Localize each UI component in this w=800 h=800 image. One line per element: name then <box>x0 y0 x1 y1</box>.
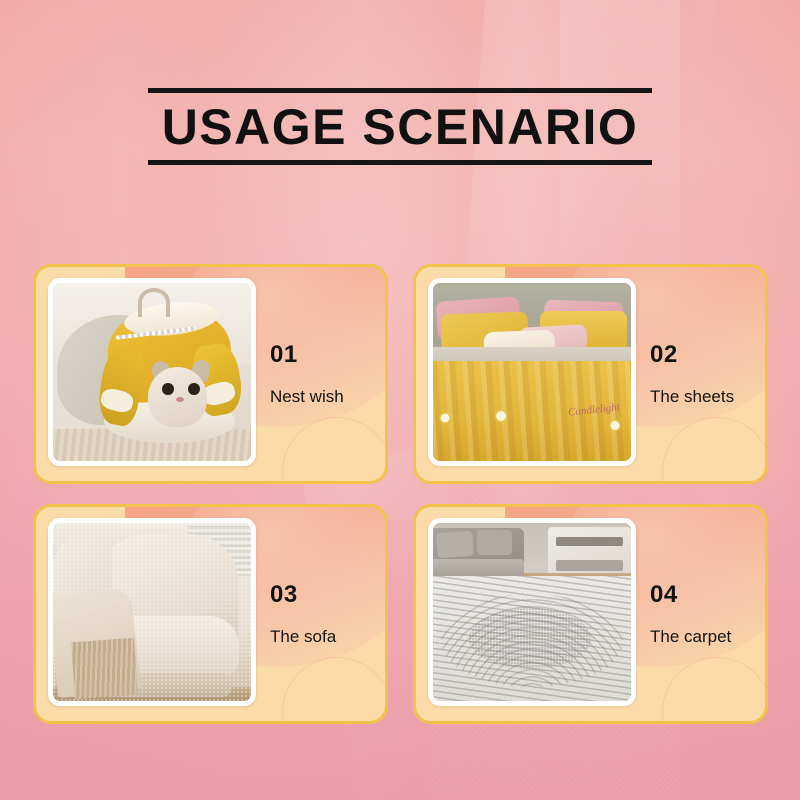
scenario-card-nest-wish[interactable]: 01 Nest wish <box>33 264 388 484</box>
photo-the-carpet[interactable] <box>428 518 636 706</box>
card-number: 02 <box>650 341 678 369</box>
page-title-block: USAGE SCENARIO <box>148 88 652 165</box>
scenario-card-the-carpet[interactable]: 04 The carpet <box>413 504 768 724</box>
card-text-panel: 04 The carpet <box>650 507 765 721</box>
card-text-panel: 02 The sheets <box>650 267 765 481</box>
card-label: The sheets <box>650 387 734 407</box>
photo-the-sofa[interactable] <box>48 518 256 706</box>
card-label: The sofa <box>270 627 336 647</box>
card-number: 04 <box>650 581 678 609</box>
scenario-card-the-sheets[interactable]: Candlelight 02 The sheets <box>413 264 768 484</box>
card-label: Nest wish <box>270 387 344 407</box>
scenario-card-the-sofa[interactable]: 03 The sofa <box>33 504 388 724</box>
page-title: USAGE SCENARIO <box>148 93 652 160</box>
card-number: 03 <box>270 581 298 609</box>
photo-nest-wish[interactable] <box>48 278 256 466</box>
photo-the-sheets[interactable]: Candlelight <box>428 278 636 466</box>
card-text-panel: 01 Nest wish <box>270 267 385 481</box>
card-label: The carpet <box>650 627 731 647</box>
card-number: 01 <box>270 341 298 369</box>
title-rule-bottom <box>148 160 652 165</box>
scenario-card-grid: 01 Nest wish Candlelight 02 The sheets <box>33 264 768 724</box>
card-text-panel: 03 The sofa <box>270 507 385 721</box>
